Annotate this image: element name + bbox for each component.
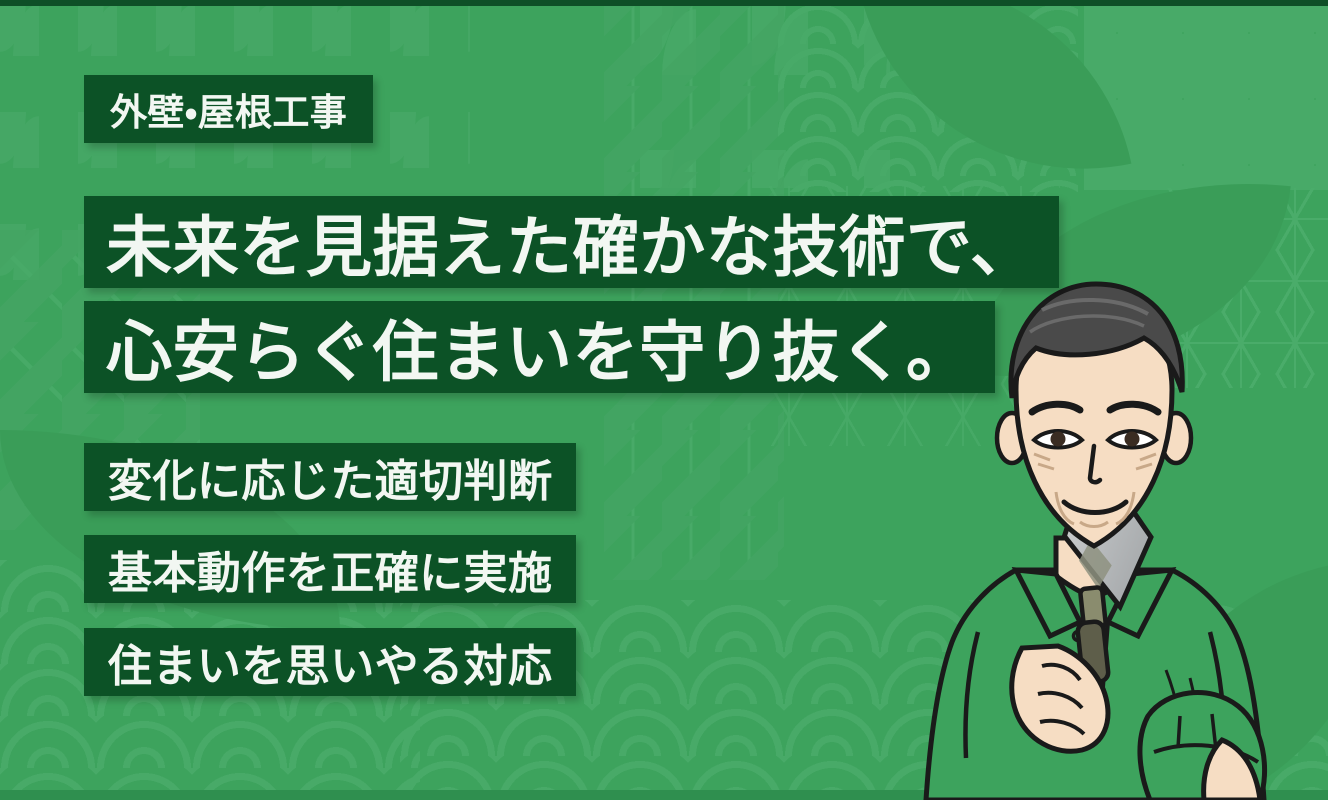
category-badge: 外壁・屋根工事 bbox=[84, 75, 373, 143]
feature-item-2: 基本動作を正確に実施 bbox=[84, 535, 576, 603]
feature-item-1: 変化に応じた適切判断 bbox=[84, 443, 576, 511]
headline-line-1: 未来を見据えた確かな技術で、 bbox=[84, 196, 1059, 288]
banner-content: 外壁・屋根工事 未来を見据えた確かな技術で、 心安らぐ住まいを守り抜く。 変化に… bbox=[0, 0, 1328, 800]
feature-item-3: 住まいを思いやる対応 bbox=[84, 628, 576, 696]
hero-banner: 外壁・屋根工事 未来を見据えた確かな技術で、 心安らぐ住まいを守り抜く。 変化に… bbox=[0, 0, 1328, 800]
headline-line-2: 心安らぐ住まいを守り抜く。 bbox=[84, 301, 995, 393]
